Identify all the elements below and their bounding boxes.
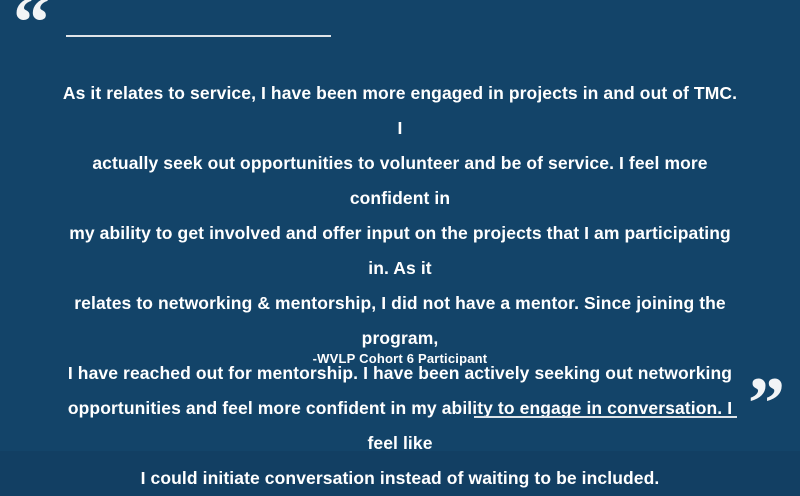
- closing-quotation-mark-icon: ”: [748, 367, 783, 441]
- top-divider-rule: [66, 35, 331, 37]
- quote-line: my ability to get involved and offer inp…: [62, 216, 738, 286]
- quote-text-block: As it relates to service, I have been mo…: [62, 76, 738, 496]
- quote-line: actually seek out opportunities to volun…: [62, 146, 738, 216]
- testimonial-quote-card: “ As it relates to service, I have been …: [0, 0, 800, 451]
- top-ornament-group: “: [0, 0, 800, 70]
- quote-line: I could initiate conversation instead of…: [62, 461, 738, 496]
- quote-line: relates to networking & mentorship, I di…: [62, 286, 738, 356]
- bottom-divider-rule: [474, 416, 737, 418]
- opening-quotation-mark-icon: “: [13, 0, 48, 60]
- quote-line: As it relates to service, I have been mo…: [62, 76, 738, 146]
- quote-attribution: -WVLP Cohort 6 Participant: [0, 350, 800, 368]
